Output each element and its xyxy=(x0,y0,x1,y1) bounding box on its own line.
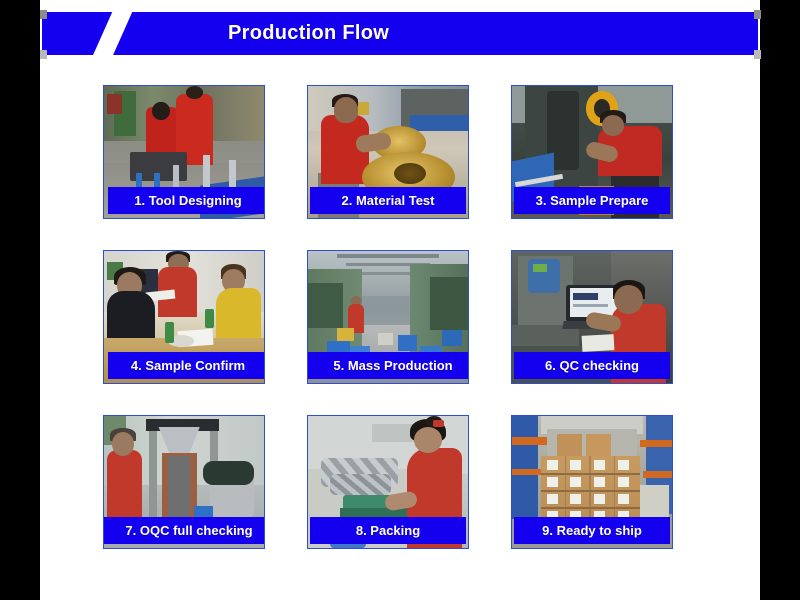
flow-step-4[interactable]: 4. Sample Confirm xyxy=(103,250,265,384)
header-banner: Production Flow xyxy=(42,12,758,55)
step-photo-sample-confirm: 4. Sample Confirm xyxy=(103,250,265,384)
page-title: Production Flow xyxy=(42,12,758,55)
header-notch-top-right xyxy=(754,10,761,19)
letterbox-bar-left xyxy=(0,0,40,600)
flow-step-5[interactable]: 5. Mass Production xyxy=(307,250,469,384)
flow-step-7[interactable]: 7. OQC full checking xyxy=(103,415,265,549)
flow-step-8[interactable]: 8. Packing xyxy=(307,415,469,549)
step-label-1: 1. Tool Designing xyxy=(108,187,265,214)
flow-step-6[interactable]: 6. QC checking xyxy=(511,250,673,384)
step-label-8: 8. Packing xyxy=(310,517,466,544)
step-photo-packing: 8. Packing xyxy=(307,415,469,549)
step-label-7: 7. OQC full checking xyxy=(104,517,265,544)
flow-step-9[interactable]: 9. Ready to ship xyxy=(511,415,673,549)
step-label-2: 2. Material Test xyxy=(310,187,466,214)
step-photo-material-test: 2. Material Test xyxy=(307,85,469,219)
step-photo-mass-production: 5. Mass Production xyxy=(307,250,469,384)
step-photo-oqc-full-checking: 7. OQC full checking xyxy=(103,415,265,549)
step-label-4: 4. Sample Confirm xyxy=(108,352,265,379)
step-label-6: 6. QC checking xyxy=(514,352,670,379)
step-photo-ready-to-ship: 9. Ready to ship xyxy=(511,415,673,549)
step-photo-qc-checking: 6. QC checking xyxy=(511,250,673,384)
header-notch-bottom-left xyxy=(40,50,47,59)
flow-step-3[interactable]: 3. Sample Prepare xyxy=(511,85,673,219)
slide-canvas: Production Flow 1 xyxy=(0,0,800,600)
slide-body: Production Flow 1 xyxy=(40,0,760,600)
step-label-3: 3. Sample Prepare xyxy=(514,187,670,214)
step-photo-tool-designing: 1. Tool Designing xyxy=(103,85,265,219)
step-label-5: 5. Mass Production xyxy=(308,352,469,379)
step-label-9: 9. Ready to ship xyxy=(514,517,670,544)
flow-step-2[interactable]: 2. Material Test xyxy=(307,85,469,219)
header-notch-top-left xyxy=(40,10,47,19)
header-notch-bottom-right xyxy=(754,50,761,59)
letterbox-bar-right xyxy=(760,0,800,600)
flow-step-1[interactable]: 1. Tool Designing xyxy=(103,85,265,219)
production-flow-grid: 1. Tool Designing 2. Material Test xyxy=(103,85,703,585)
step-photo-sample-prepare: 3. Sample Prepare xyxy=(511,85,673,219)
